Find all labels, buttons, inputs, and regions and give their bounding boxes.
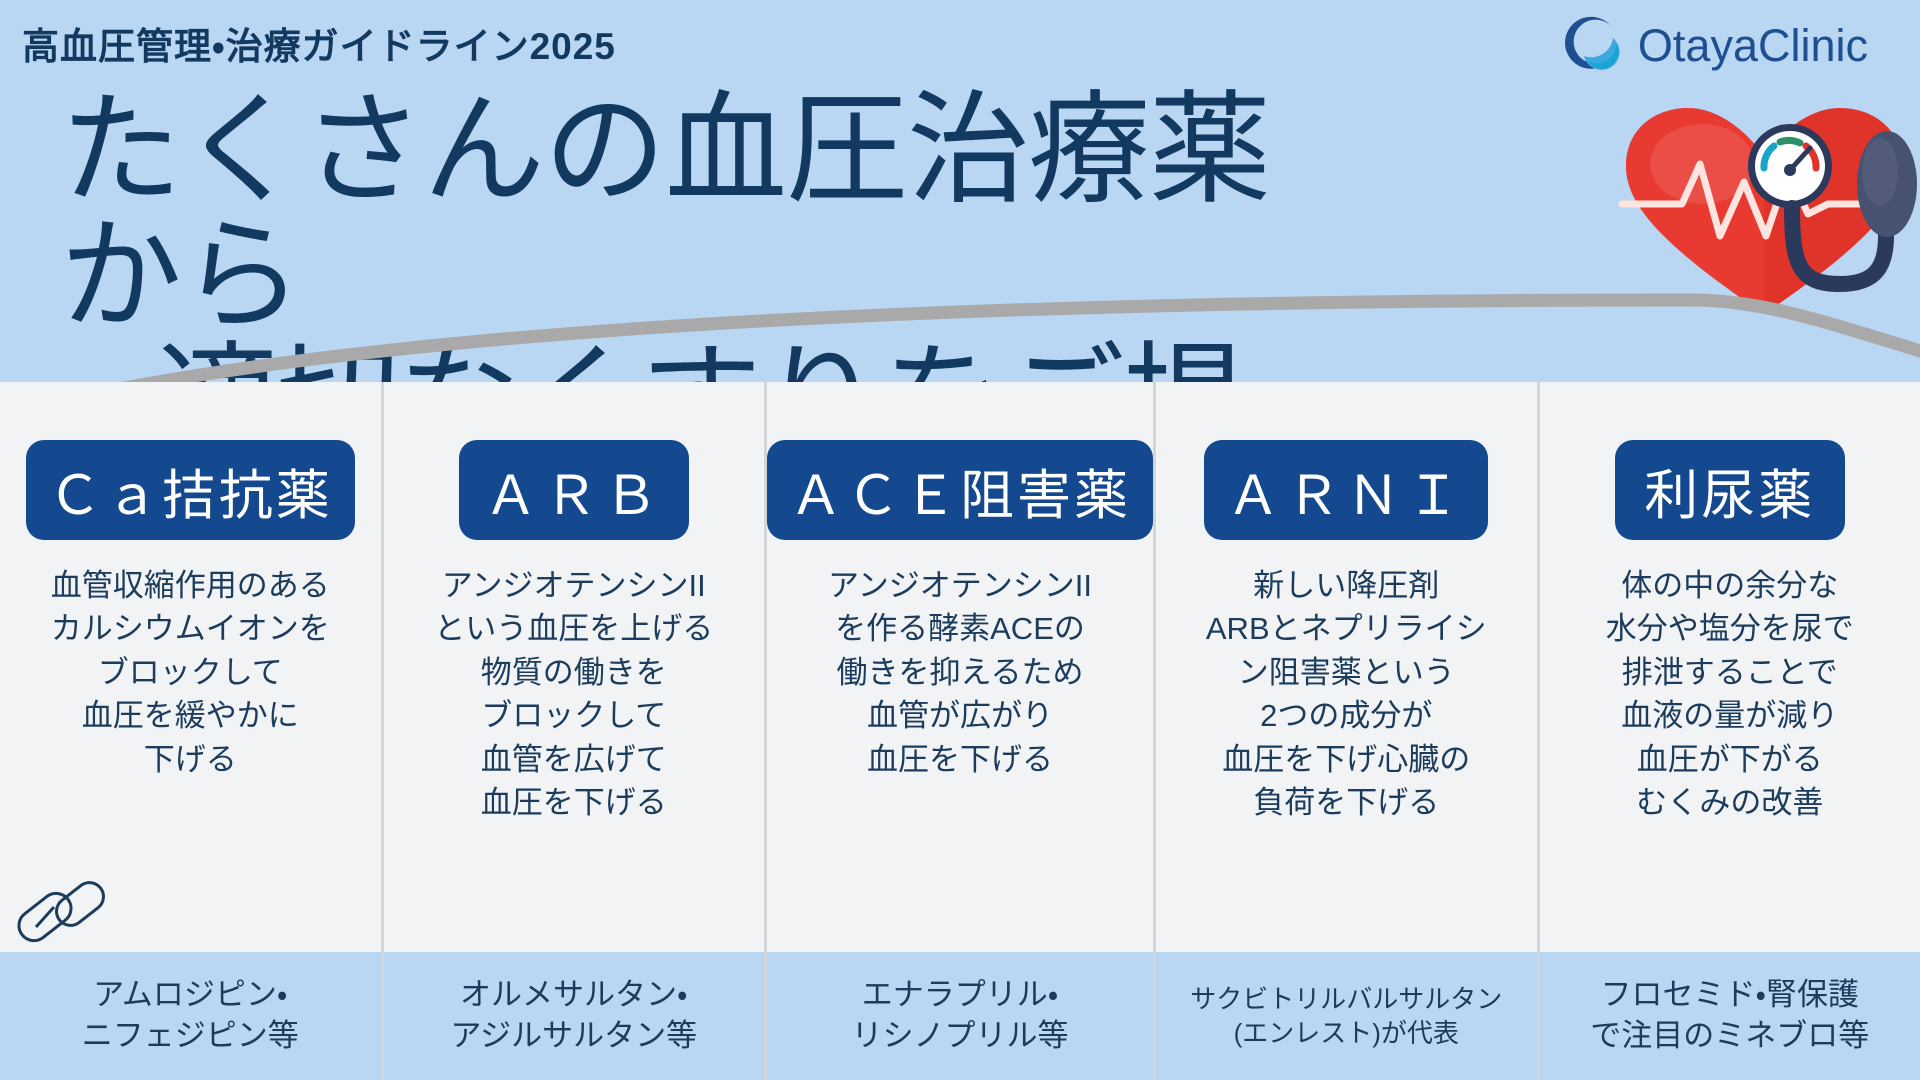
column-drug-names: サクビトリルバルサルタン (エンレスト)が代表 [1156, 952, 1537, 1080]
column-ca-antagonist: Ｃａ拮抗薬 血管収縮作用のある カルシウムイオンを ブロックして 血圧を緩やかに… [0, 382, 384, 1080]
column-description: 新しい降圧剤 ARBとネプリライシ ン阻害薬という 2つの成分が 血圧を下げ心臓… [1200, 564, 1493, 824]
clinic-name: OtayaClinic [1638, 20, 1868, 72]
column-description: アンジオテンシンII を作る酵素ACEの 働きを抑えるため 血管が広がり 血圧を… [822, 564, 1098, 781]
column-arni: ＡＲＮＩ 新しい降圧剤 ARBとネプリライシ ン阻害薬という 2つの成分が 血圧… [1156, 382, 1540, 1080]
column-ace-inhibitor: ＡＣＥ阻害薬 アンジオテンシンII を作る酵素ACEの 働きを抑えるため 血管が… [767, 382, 1156, 1080]
column-title-chip: ＡＣＥ阻害薬 [767, 440, 1153, 540]
capsule-pills-icon [6, 878, 126, 950]
headline-line-2: 適切なくすりをご提案 [60, 339, 1360, 382]
headline-line-1: たくさんの血圧治療薬から [60, 82, 1270, 344]
column-drug-names: オルメサルタン・ アジルサルタン等 [384, 952, 765, 1080]
column-description: 血管収縮作用のある カルシウムイオンを ブロックして 血圧を緩やかに 下げる [45, 564, 336, 781]
column-description: 体の中の余分な 水分や塩分を尿で 排泄することで 血液の量が減り 血圧が下がる … [1600, 564, 1860, 824]
column-title-chip: Ｃａ拮抗薬 [26, 440, 355, 540]
column-drug-names: エナラプリル・ リシノプリル等 [767, 952, 1153, 1080]
column-title-chip: ＡＲＮＩ [1204, 440, 1488, 540]
medication-columns: Ｃａ拮抗薬 血管収縮作用のある カルシウムイオンを ブロックして 血圧を緩やかに… [0, 382, 1920, 1080]
column-drug-names: アムロジピン・ ニフェジピン等 [0, 952, 381, 1080]
column-arb: ＡＲＢ アンジオテンシンII という血圧を上げる 物質の働きを ブロックして 血… [384, 382, 768, 1080]
page-title: たくさんの血圧治療薬から 適切なくすりをご提案 [60, 88, 1360, 382]
column-drug-names: フロセミド・腎保護 で注目のミネブロ等 [1540, 952, 1920, 1080]
column-description: アンジオテンシンII という血圧を上げる 物質の働きを ブロックして 血管を広げ… [428, 564, 719, 824]
crescent-circle-logo-icon [1564, 16, 1624, 76]
column-diuretic: 利尿薬 体の中の余分な 水分や塩分を尿で 排泄することで 血液の量が減り 血圧が… [1540, 382, 1920, 1080]
column-title-chip: ＡＲＢ [459, 440, 689, 540]
hero-banner: 高血圧管理・治療ガイドライン2025 たくさんの血圧治療薬から 適切なくすりをご… [0, 0, 1920, 382]
heart-with-ecg-and-bp-gauge-icon [1604, 86, 1920, 336]
guideline-kicker: 高血圧管理・治療ガイドライン2025 [22, 16, 616, 70]
clinic-logo[interactable]: OtayaClinic [1564, 16, 1868, 76]
column-title-chip: 利尿薬 [1615, 440, 1845, 540]
